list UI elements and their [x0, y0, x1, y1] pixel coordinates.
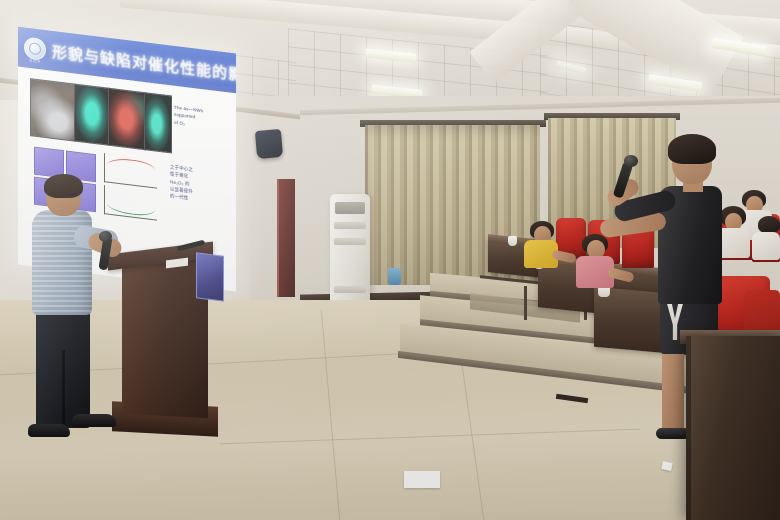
air-conditioner-unit[interactable]	[330, 194, 370, 304]
speaker-leg-separation	[62, 350, 65, 428]
questioner-hair	[668, 134, 716, 164]
lecture-hall-photo: DICP 形貌与缺陷对催化性能的影响	[0, 0, 780, 520]
waste-bin	[388, 268, 401, 285]
slide-micrograph-panel-b	[74, 83, 110, 145]
speaker-hair	[44, 174, 83, 198]
ac-panel-band-1	[334, 222, 366, 229]
speaker-shoe-right	[72, 414, 116, 427]
slide-plot-rise	[104, 185, 157, 221]
attendee-5-body	[752, 232, 780, 260]
speaker-legs	[36, 310, 90, 428]
foreground-desk-edge	[686, 336, 691, 520]
paper-on-floor	[404, 471, 440, 488]
podium-side-display	[196, 252, 224, 301]
slide-plot-decay-curve	[107, 157, 155, 174]
slide-micrograph-panel-c	[108, 88, 146, 151]
slide-micrograph-panel-a	[30, 78, 76, 142]
side-door[interactable]	[277, 179, 295, 297]
slide-micrograph-panel-d	[144, 92, 172, 153]
slide-plot-rise-curve	[107, 201, 155, 217]
questioner-leg-left	[662, 350, 684, 432]
ac-panel-band-2	[334, 238, 366, 245]
wall-speaker-icon	[255, 129, 283, 159]
ac-vent-grille	[335, 202, 365, 214]
institute-logo-caption: DICP	[25, 58, 45, 64]
ac-panel-band-3	[334, 286, 366, 293]
desk-cup-4	[508, 236, 517, 246]
slide-note-top-right: The as—NWs supported of O₂	[174, 104, 230, 133]
slide-note-bottom-right: 之于中心之 性于催化 Na₂O₃ 的 以显著提升 的一代性	[170, 163, 230, 207]
speaker-shoe-left	[28, 424, 70, 437]
questioner-microphone-head-icon	[624, 155, 638, 167]
institute-logo-icon: DICP	[24, 36, 46, 61]
attendee-5-hair	[758, 216, 780, 233]
stage-handrail-post-1	[524, 286, 527, 320]
foreground-desk	[686, 336, 780, 520]
slide-plot-decay	[104, 153, 157, 189]
speaker-microphone-head-icon	[99, 231, 112, 242]
questioner-sandal-left	[656, 428, 690, 439]
